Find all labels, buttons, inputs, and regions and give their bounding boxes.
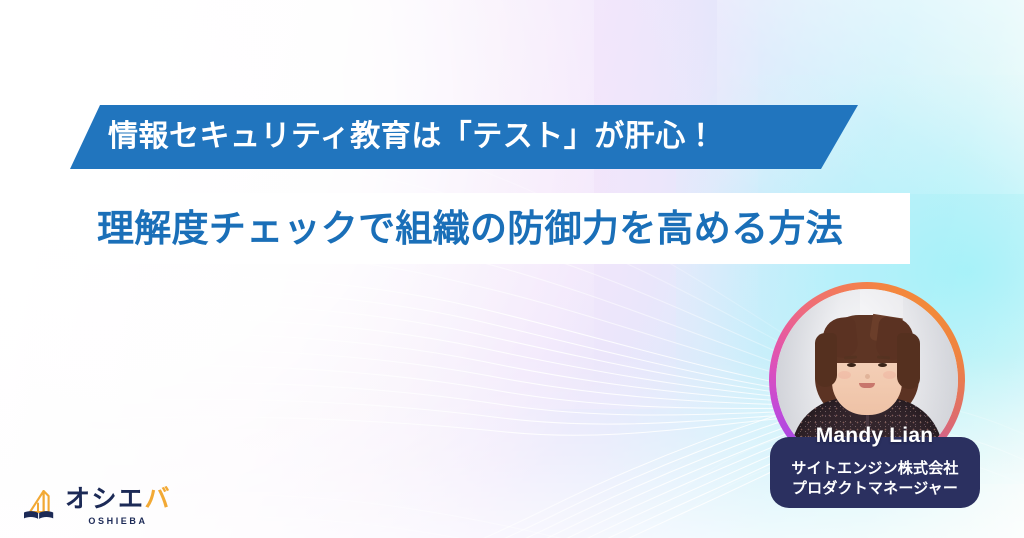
portrait-cheek-left [838, 371, 851, 379]
speaker-block: Mandy Lian サイトエンジン株式会社 プロダクトマネージャー [769, 282, 980, 504]
headline-banner: 情報セキュリティ教育は「テスト」が肝心！ [70, 105, 858, 169]
brand-logo[interactable]: オシエバ OSHIEBA [20, 484, 170, 528]
portrait-mouth [859, 383, 875, 388]
logo-wordmark-main: オシエ [65, 485, 145, 513]
speaker-name: Mandy Lian [769, 425, 980, 446]
speaker-name-card: サイトエンジン株式会社 プロダクトマネージャー [770, 437, 980, 508]
portrait-side-hair-left [815, 333, 837, 387]
subhead-text: 理解度チェックで組織の防御力を高める方法 [97, 210, 843, 247]
logo-wordmark-accent: バ [145, 485, 172, 513]
portrait-nose [865, 374, 870, 379]
speaker-role: プロダクトマネージャー [776, 479, 974, 499]
headline-banner-text: 情報セキュリティ教育は「テスト」が肝心！ [108, 122, 716, 152]
thumbnail-canvas: 情報セキュリティ教育は「テスト」が肝心！ 理解度チェックで組織の防御力を高める方… [0, 0, 1024, 538]
name-card-spacer [776, 446, 974, 459]
book-with-pen-icon [20, 487, 58, 525]
logo-typography: オシエバ OSHIEBA [65, 487, 171, 526]
portrait-cheek-right [883, 371, 896, 379]
portrait-eye-left [847, 363, 856, 367]
speaker-company: サイトエンジン株式会社 [776, 459, 974, 479]
portrait-side-hair-right [897, 333, 920, 389]
logo-wordmark-latin: OSHIEBA [65, 516, 171, 526]
subhead-panel: 理解度チェックで組織の防御力を高める方法 [78, 193, 910, 264]
portrait-eye-right [878, 363, 887, 367]
logo-wordmark: オシエバ [65, 487, 171, 512]
